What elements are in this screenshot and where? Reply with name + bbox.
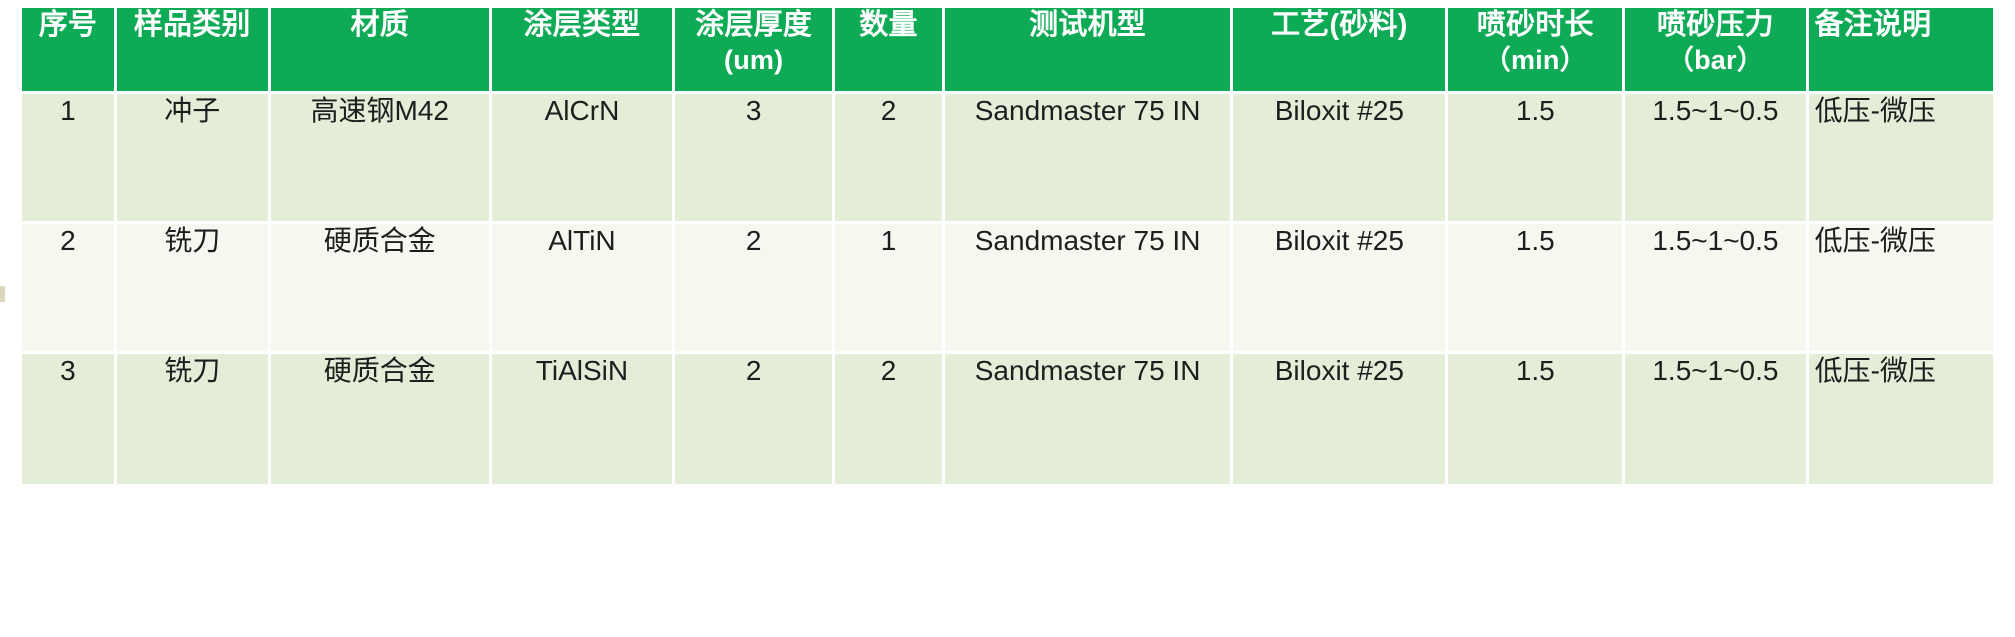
left-edge-artifact	[0, 286, 5, 302]
column-header-sample-label: 样品类别	[134, 9, 251, 41]
column-header-machine-label: 测试机型	[1029, 9, 1146, 41]
cell-coating: TiAlSiN	[492, 354, 675, 484]
column-header-thickness: 涂层厚度 (um)	[675, 8, 835, 94]
column-header-pressure-unit: （bar）	[1625, 44, 1805, 77]
cell-sample: 铣刀	[117, 354, 271, 484]
header-row: 序号 样品类别 材质 涂层类型 涂层厚度 (um) 数量	[22, 8, 1993, 94]
column-header-note-label: 备注说明	[1815, 9, 1932, 41]
column-header-material-label: 材质	[351, 9, 409, 41]
cell-sample: 冲子	[117, 94, 271, 224]
column-header-sample: 样品类别	[117, 8, 271, 94]
column-header-duration-label: 喷砂时长	[1477, 9, 1594, 41]
table-row: 3 铣刀 硬质合金 TiAlSiN 2 2 Sandmaster 75 IN B…	[22, 354, 1993, 484]
cell-quantity: 2	[835, 354, 945, 484]
column-header-quantity-label: 数量	[859, 9, 917, 41]
cell-machine: Sandmaster 75 IN	[945, 224, 1234, 354]
cell-machine: Sandmaster 75 IN	[945, 354, 1234, 484]
column-header-thickness-unit: (um)	[675, 44, 832, 77]
cell-note: 低压-微压	[1809, 224, 1993, 354]
cell-seq: 2	[22, 224, 117, 354]
cell-thickness: 2	[675, 354, 835, 484]
cell-note: 低压-微压	[1809, 94, 1993, 224]
column-header-thickness-label: 涂层厚度	[695, 9, 812, 41]
table-row: 2 铣刀 硬质合金 AlTiN 2 1 Sandmaster 75 IN Bil…	[22, 224, 1993, 354]
column-header-coating-label: 涂层类型	[524, 9, 641, 41]
cell-process: Biloxit #25	[1233, 94, 1448, 224]
cell-material: 硬质合金	[271, 224, 492, 354]
cell-coating: AlTiN	[492, 224, 675, 354]
cell-thickness: 2	[675, 224, 835, 354]
cell-pressure: 1.5~1~0.5	[1625, 354, 1808, 484]
column-header-machine: 测试机型	[945, 8, 1234, 94]
column-header-note: 备注说明	[1809, 8, 1993, 94]
column-header-process-label: 工艺(砂料)	[1271, 9, 1408, 41]
column-header-process: 工艺(砂料)	[1233, 8, 1448, 94]
column-header-duration-unit: （min）	[1448, 44, 1622, 77]
spec-table-sheet: 序号 样品类别 材质 涂层类型 涂层厚度 (um) 数量	[0, 0, 2015, 637]
cell-coating: AlCrN	[492, 94, 675, 224]
column-header-coating: 涂层类型	[492, 8, 675, 94]
column-header-pressure: 喷砂压力 （bar）	[1625, 8, 1808, 94]
cell-machine: Sandmaster 75 IN	[945, 94, 1234, 224]
cell-process: Biloxit #25	[1233, 224, 1448, 354]
cell-seq: 1	[22, 94, 117, 224]
cell-process: Biloxit #25	[1233, 354, 1448, 484]
cell-sample: 铣刀	[117, 224, 271, 354]
cell-quantity: 1	[835, 224, 945, 354]
cell-note: 低压-微压	[1809, 354, 1993, 484]
column-header-material: 材质	[271, 8, 492, 94]
cell-pressure: 1.5~1~0.5	[1625, 224, 1808, 354]
sandblasting-spec-table: 序号 样品类别 材质 涂层类型 涂层厚度 (um) 数量	[22, 8, 1993, 484]
table-body: 1 冲子 高速钢M42 AlCrN 3 2 Sandmaster 75 IN B…	[22, 94, 1993, 484]
cell-quantity: 2	[835, 94, 945, 224]
cell-duration: 1.5	[1448, 94, 1625, 224]
table-row: 1 冲子 高速钢M42 AlCrN 3 2 Sandmaster 75 IN B…	[22, 94, 1993, 224]
cell-material: 高速钢M42	[271, 94, 492, 224]
column-header-seq: 序号	[22, 8, 117, 94]
cell-material: 硬质合金	[271, 354, 492, 484]
cell-seq: 3	[22, 354, 117, 484]
cell-thickness: 3	[675, 94, 835, 224]
cell-duration: 1.5	[1448, 224, 1625, 354]
table-header: 序号 样品类别 材质 涂层类型 涂层厚度 (um) 数量	[22, 8, 1993, 94]
column-header-seq-label: 序号	[39, 9, 97, 41]
column-header-pressure-label: 喷砂压力	[1657, 9, 1774, 41]
cell-duration: 1.5	[1448, 354, 1625, 484]
cell-pressure: 1.5~1~0.5	[1625, 94, 1808, 224]
column-header-duration: 喷砂时长 （min）	[1448, 8, 1625, 94]
column-header-quantity: 数量	[835, 8, 945, 94]
